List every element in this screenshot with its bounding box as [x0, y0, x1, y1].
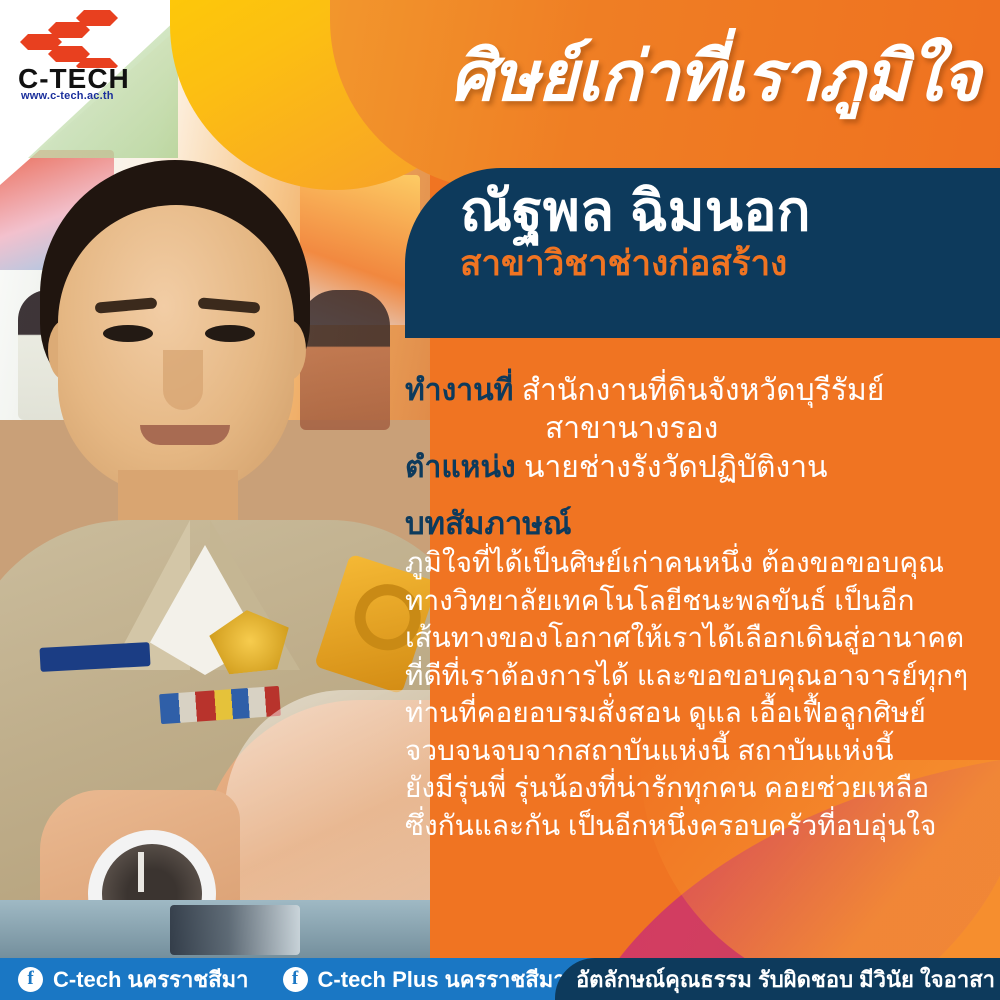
interview-line: ภูมิใจที่ได้เป็นศิษย์เก่าคนหนึ่ง ต้องขอข… — [405, 544, 985, 582]
workplace-value: สำนักงานที่ดินจังหวัดบุรีรัมย์ — [522, 374, 885, 407]
interview-line: เส้นทางของโอกาศให้เราได้เลือกเดินสู่อานา… — [405, 619, 985, 657]
workplace-row: ทำงานที่ สำนักงานที่ดินจังหวัดบุรีรัมย์ — [405, 372, 980, 410]
name-banner: ณัฐพล ฉิมนอก สาขาวิชาช่างก่อสร้าง — [405, 168, 1000, 338]
facebook-page-2-label[interactable]: C-tech Plus นครราชสีมา — [318, 962, 566, 997]
school-motto: อัตลักษณ์คุณธรรม รับผิดชอบ มีวินัย ใจอาส… — [555, 958, 1000, 1000]
employment-info: ทำงานที่ สำนักงานที่ดินจังหวัดบุรีรัมย์ … — [405, 372, 980, 487]
workplace-value-line2: สาขานางรอง — [545, 412, 718, 445]
interview-line: ยังมีรุ่นพี่ รุ่นน้องที่น่ารักทุกคน คอยช… — [405, 769, 985, 807]
ctech-logo: C-TECH www.c-tech.ac.th — [10, 8, 130, 100]
interview-line: ทางวิทยาลัยเทคโนโลยีชนะพลขันธ์ เป็นอีก — [405, 582, 985, 620]
alumni-name: ณัฐพล ฉิมนอก — [460, 180, 1000, 243]
interview-heading: บทสัมภาษณ์ — [405, 505, 985, 542]
photo-nose — [163, 350, 203, 410]
interview-line: ซึ่งกันและกัน เป็นอีกหนึ่งครอบครัวที่อบอ… — [405, 807, 985, 845]
facebook-page-1-label[interactable]: C-tech นครราชสีมา — [53, 962, 249, 997]
photo-eye-left — [103, 325, 153, 342]
footer-bar: f C-tech นครราชสีมา f C-tech Plus นครราช… — [0, 958, 1000, 1000]
position-value: นายช่างรังวัดปฏิบัติงาน — [524, 451, 828, 484]
photo-background-person-right — [300, 290, 390, 430]
logo-website-url: www.c-tech.ac.th — [21, 90, 114, 102]
facebook-icon[interactable]: f — [18, 967, 43, 992]
workplace-label: ทำงานที่ — [405, 374, 513, 407]
facebook-icon[interactable]: f — [283, 967, 308, 992]
interview-line: ท่านที่คอยอบรมสั่งสอน ดูแล เอื้อเฟื้อลูก… — [405, 694, 985, 732]
photo-mouth — [140, 425, 230, 445]
interview-section: บทสัมภาษณ์ ภูมิใจที่ได้เป็นศิษย์เก่าคนหน… — [405, 505, 985, 844]
page-title: ศิษย์เก่าที่เราภูมิใจ — [340, 30, 980, 122]
position-label: ตำแหน่ง — [405, 451, 516, 484]
footer-social-links: f C-tech นครราชสีมา f C-tech Plus นครราช… — [18, 958, 566, 1000]
photo-table-object — [170, 905, 300, 955]
alumni-poster: ศิษย์เก่าที่เราภูมิใจ C-TECH www.c-tech.… — [0, 0, 1000, 1000]
position-row: ตำแหน่ง นายช่างรังวัดปฏิบัติงาน — [405, 449, 980, 487]
alumni-department: สาขาวิชาช่างก่อสร้าง — [460, 245, 1000, 284]
workplace-row-2: สาขานางรอง — [405, 410, 980, 448]
photo-eye-right — [205, 325, 255, 342]
interview-line: จวบจนจบจากสถาบันแห่งนี้ สถาบันแห่งนี้ — [405, 732, 985, 770]
interview-line: ที่ดีที่เราต้องการได้ และขอขอบคุณอาจารย์… — [405, 657, 985, 695]
hexagon-cluster-logo-icon — [10, 8, 130, 68]
